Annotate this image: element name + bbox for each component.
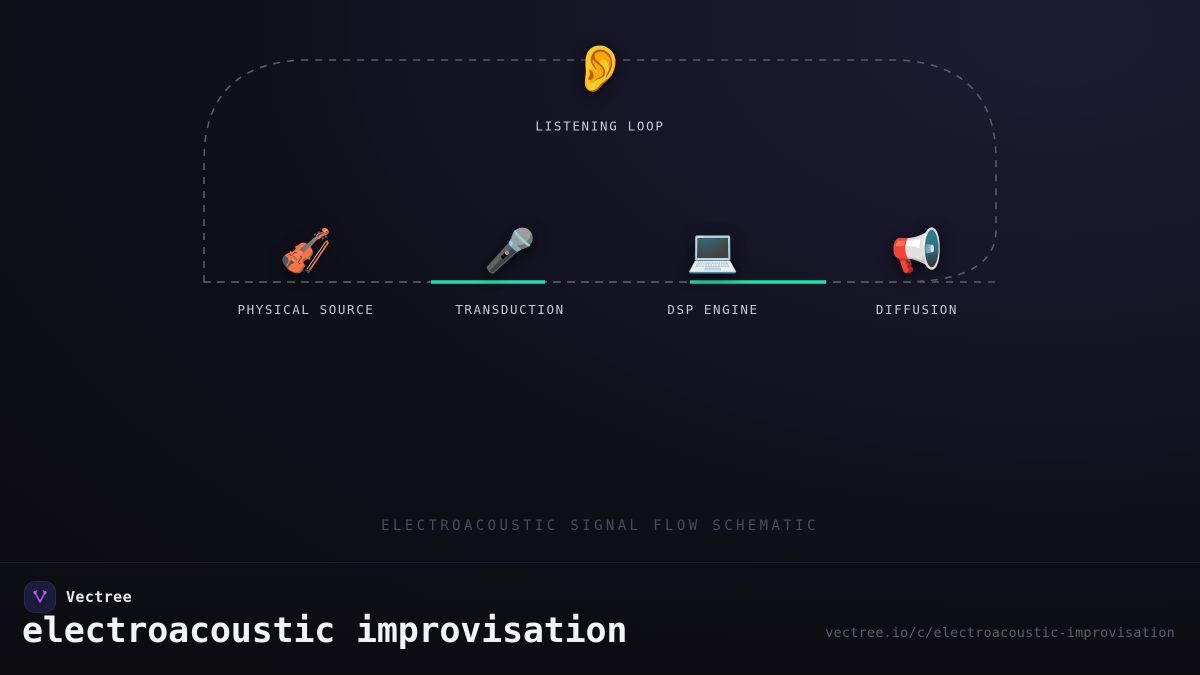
microphone-icon: 🎤 xyxy=(400,222,620,280)
loudspeaker-icon: 📢 xyxy=(807,222,1027,280)
brand-name: Vectree xyxy=(66,588,132,606)
node-physical-source[interactable]: 🎻 PHYSICAL SOURCE xyxy=(196,222,416,317)
node-label-diffusion: DIFFUSION xyxy=(807,302,1027,317)
listening-loop-label: LISTENING LOOP xyxy=(535,119,664,134)
node-label-dsp-engine: DSP ENGINE xyxy=(603,302,823,317)
brand-block[interactable]: Vectree xyxy=(24,581,132,613)
footer-url: vectree.io/c/electroacoustic-improvisati… xyxy=(825,625,1175,641)
node-label-physical-source: PHYSICAL SOURCE xyxy=(196,302,416,317)
page-title: electroacoustic improvisation xyxy=(22,611,627,651)
ear-icon: 👂 xyxy=(571,45,628,91)
vectree-logo-icon xyxy=(24,581,56,613)
violin-icon: 🎻 xyxy=(196,222,416,280)
node-dsp-engine[interactable]: 💻 DSP ENGINE xyxy=(603,222,823,317)
diagram-stage: 👂 LISTENING LOOP 🎻 PHYSICAL SOURCE 🎤 TRA… xyxy=(0,0,1200,560)
diagram-caption: ELECTROACOUSTIC SIGNAL FLOW SCHEMATIC xyxy=(0,518,1200,534)
laptop-icon: 💻 xyxy=(603,222,823,280)
node-diffusion[interactable]: 📢 DIFFUSION xyxy=(807,222,1027,317)
vectree-glyph xyxy=(30,587,50,607)
node-label-transduction: TRANSDUCTION xyxy=(400,302,620,317)
signal-chain: 🎻 PHYSICAL SOURCE 🎤 TRANSDUCTION 💻 DSP E… xyxy=(0,222,1200,332)
footer-bar: Vectree electroacoustic improvisation ve… xyxy=(0,562,1200,675)
screenshot-canvas: 👂 LISTENING LOOP 🎻 PHYSICAL SOURCE 🎤 TRA… xyxy=(0,0,1200,675)
node-transduction[interactable]: 🎤 TRANSDUCTION xyxy=(400,222,620,317)
